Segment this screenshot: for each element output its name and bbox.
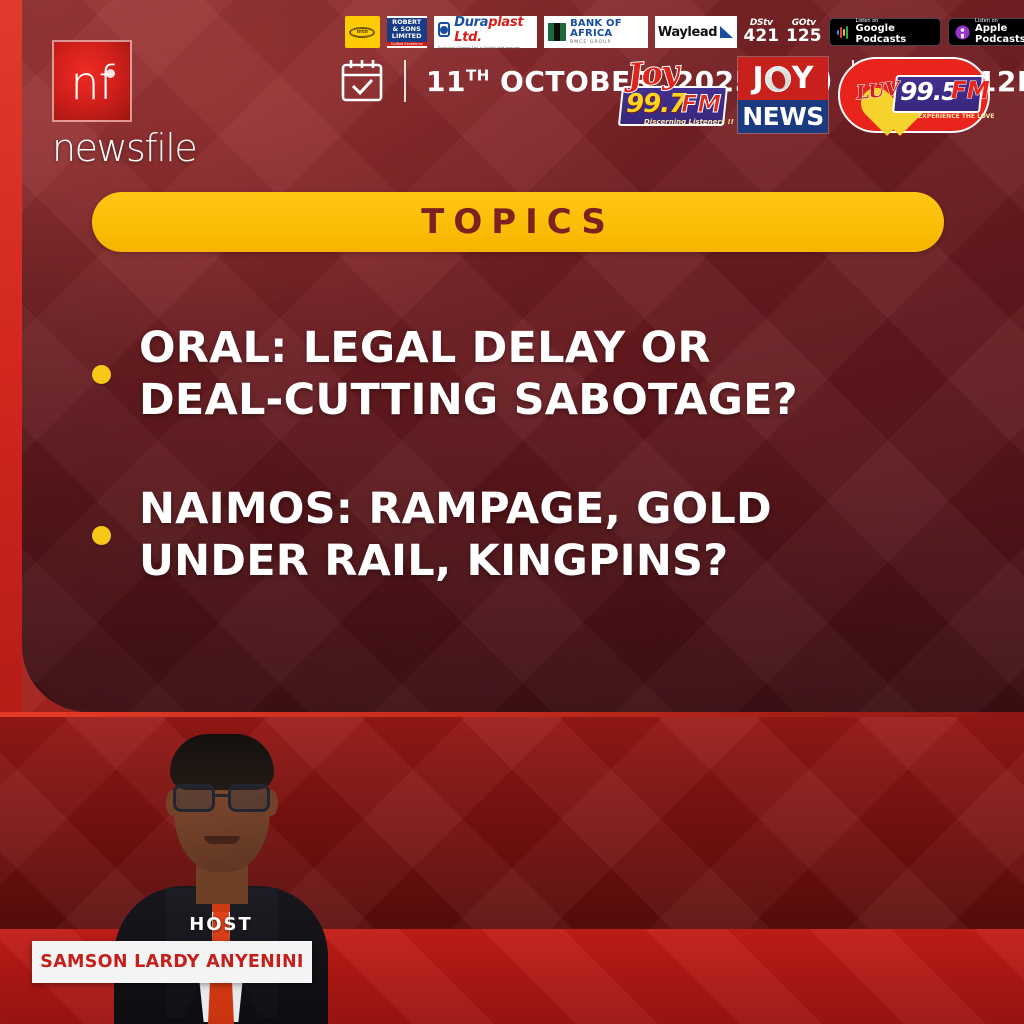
bank-of-africa-mark-icon: [548, 23, 566, 41]
badge-google-podcasts[interactable]: Listen on Google Podcasts: [829, 18, 942, 46]
host-role-label: HOST: [108, 914, 334, 935]
robert-sons-l3: LIMITED: [392, 32, 422, 40]
bullet-icon: [92, 365, 111, 384]
nf-mark-text: nf: [70, 60, 113, 106]
joy-fm-wordmark: Joy: [627, 54, 680, 93]
schedule-date-suffix: TH: [466, 66, 490, 84]
google-podcasts-icon: [836, 25, 851, 40]
globe-icon: [765, 66, 791, 92]
glasses-icon: [170, 784, 276, 814]
joy-news-bottom: NEWS: [738, 100, 828, 133]
bank-of-africa-group: BMCE GROUP: [570, 41, 643, 46]
waylead-name: Waylead: [658, 25, 717, 40]
nf-badge-icon: nf: [52, 40, 132, 122]
schedule-band-top-edge: [0, 712, 1024, 717]
mtn-oval-icon: mtn: [349, 27, 375, 38]
duraplast-name-a: Dura: [454, 15, 488, 30]
topic-line: DEAL-CUTTING SABOTAGE?: [139, 374, 798, 426]
glasses-lens-right: [228, 784, 270, 812]
joy-news-y: Y: [792, 64, 814, 94]
newsfile-wordmark: newsfile: [52, 126, 187, 170]
topic-line: UNDER RAIL, KINGPINS?: [139, 535, 772, 587]
gotv-channel: 125: [786, 28, 822, 46]
badge-apple-podcasts[interactable]: Listen on Apple Podcasts: [948, 18, 1024, 46]
duraplast-sub: Duraplast (Ghana) Ltd. • Quality that en…: [438, 46, 521, 50]
topic-line: ORAL: LEGAL DELAY OR: [139, 322, 798, 374]
station-logo-group: 99.7 FM Joy Discerning Listeners !! J Y …: [618, 56, 990, 134]
schedule-date-day: 11: [426, 65, 466, 98]
bank-of-africa-name: BANK OF AFRICA: [570, 19, 643, 39]
glasses-lens-left: [173, 784, 215, 812]
sponsor-logo-robert-sons[interactable]: ROBERT& SONSLIMITED Crafted Excellence: [387, 16, 427, 48]
joy-fm-tagline: Discerning Listeners !!: [644, 118, 734, 126]
duraplast-circle-icon: [438, 22, 451, 37]
topic-list: ORAL: LEGAL DELAY OR DEAL-CUTTING SABOTA…: [92, 322, 964, 644]
calendar-check-icon: [340, 58, 384, 104]
joy-news-top: J Y: [738, 57, 828, 100]
sponsor-logo-group: mtn ROBERT& SONSLIMITED Crafted Excellen…: [345, 16, 1024, 48]
apple-podcasts-big: Apple Podcasts: [975, 24, 1024, 45]
topic-line: NAIMOS: RAMPAGE, GOLD: [139, 483, 772, 535]
robert-sons-sub: Crafted Excellence: [387, 42, 427, 46]
luv-band: FM: [951, 78, 990, 104]
topic-text-block: NAIMOS: RAMPAGE, GOLD UNDER RAIL, KINGPI…: [139, 483, 772, 588]
waylead-triangle-icon: [720, 26, 733, 38]
duraplast-name: Duraplast Ltd.: [454, 15, 533, 45]
joy-997-fm-logo[interactable]: 99.7 FM Joy Discerning Listeners !!: [618, 58, 728, 132]
host-mouth: [204, 836, 240, 844]
sponsor-logo-waylead[interactable]: Waylead: [655, 16, 737, 48]
schedule-divider: [404, 60, 406, 102]
sponsor-logo-gotv[interactable]: GOtv 125: [786, 16, 822, 48]
joy-news-word: NEWS: [742, 102, 824, 131]
luv-wordmark: LUV: [855, 78, 901, 104]
newsfile-logo[interactable]: nf newsfile: [52, 40, 187, 160]
nf-dot-icon: [106, 69, 115, 78]
topic-item: ORAL: LEGAL DELAY OR DEAL-CUTTING SABOTA…: [92, 322, 964, 427]
luv-995-fm-logo[interactable]: LUV 99.5 FM EXPERIENCE THE LOVE: [838, 57, 990, 133]
topic-text-block: ORAL: LEGAL DELAY OR DEAL-CUTTING SABOTA…: [139, 322, 798, 427]
sponsor-logo-bank-of-africa[interactable]: BANK OF AFRICA BMCE GROUP: [544, 16, 647, 48]
sponsor-logo-dstv[interactable]: DStv 421: [744, 16, 780, 48]
sponsor-logo-mtn[interactable]: mtn: [345, 16, 380, 48]
google-podcasts-big: Google Podcasts: [856, 24, 935, 45]
host-hair: [170, 734, 274, 790]
newsfile-topics-graphic: nf newsfile 99.7 FM Joy Discerning Liste…: [0, 0, 1024, 1024]
luv-frequency: 99.5: [900, 77, 958, 106]
dstv-channel: 421: [744, 28, 780, 46]
duraplast-row: Duraplast Ltd.: [438, 15, 533, 45]
topic-item: NAIMOS: RAMPAGE, GOLD UNDER RAIL, KINGPI…: [92, 483, 964, 588]
host-name: SAMSON LARDY ANYENINI: [40, 952, 303, 972]
bank-of-africa-text: BANK OF AFRICA BMCE GROUP: [570, 19, 643, 46]
joy-news-j: J: [753, 64, 764, 94]
topics-banner-title: TOPICS: [421, 202, 615, 242]
joy-fm-band: FM: [681, 90, 721, 118]
luv-tagline: EXPERIENCE THE LOVE: [918, 113, 994, 120]
glasses-bridge: [215, 794, 231, 797]
apple-podcasts-icon: [955, 25, 970, 40]
newsfile-wordmark-news: news: [52, 126, 144, 170]
apple-podcasts-text: Listen on Apple Podcasts: [975, 19, 1024, 45]
host-name-bar: SAMSON LARDY ANYENINI: [32, 941, 312, 983]
topics-banner: TOPICS: [92, 192, 944, 252]
robert-sons-text: ROBERT& SONSLIMITED: [387, 18, 427, 42]
joy-news-logo[interactable]: J Y NEWS: [737, 56, 829, 134]
sponsor-logo-duraplast[interactable]: Duraplast Ltd. Duraplast (Ghana) Ltd. • …: [434, 16, 537, 48]
newsfile-wordmark-file: file: [144, 126, 196, 170]
joy-fm-frequency: 99.7: [626, 89, 686, 119]
bullet-icon: [92, 526, 111, 545]
google-podcasts-text: Listen on Google Podcasts: [856, 19, 935, 45]
